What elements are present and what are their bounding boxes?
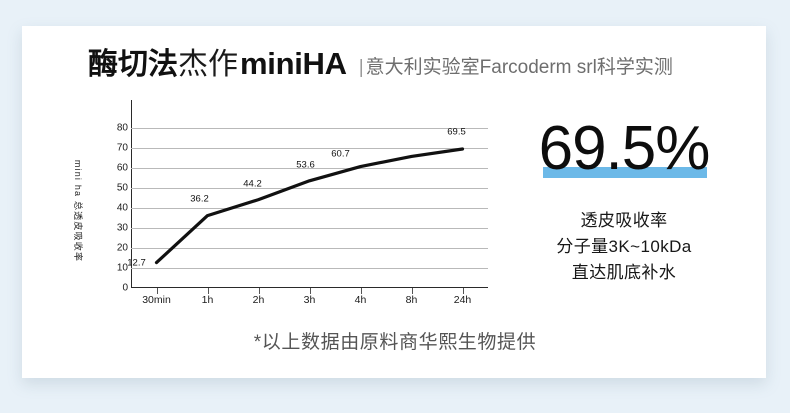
- chart-x-label: 8h: [406, 294, 418, 306]
- chart-data-label: 60.7: [331, 148, 350, 159]
- headline: 酶切法 杰作 miniHA |意大利实验室Farcoderm srl科学实测: [88, 48, 673, 80]
- chart-data-label: 12.7: [127, 257, 146, 268]
- headline-subtitle: |意大利实验室Farcoderm srl科学实测: [347, 58, 673, 77]
- highlight-line: 分子量3K~10kDa: [508, 234, 740, 260]
- chart-series-line: [131, 128, 488, 288]
- headline-thin-cn: 杰作: [178, 50, 238, 80]
- headline-subtitle-text: 意大利实验室Farcoderm srl科学实测: [366, 57, 673, 78]
- chart-y-tick: 70: [117, 143, 128, 154]
- chart-y-tick: 50: [117, 183, 128, 194]
- chart-y-tick: 20: [117, 243, 128, 254]
- chart-data-label: 44.2: [243, 178, 262, 189]
- chart-x-labels: 30min1h2h3h4h8h24h: [131, 294, 488, 310]
- highlight-lines: 透皮吸收率分子量3K~10kDa直达肌底补水: [508, 208, 740, 285]
- chart-y-axis-label: mini ha 总透皮吸收率: [71, 136, 85, 286]
- highlight-line: 直达肌底补水: [508, 260, 740, 286]
- chart-data-label: 53.6: [296, 159, 315, 170]
- headline-separator: |: [359, 57, 366, 78]
- headline-bold-cn: 酶切法: [88, 50, 178, 80]
- chart-x-label: 3h: [304, 294, 316, 306]
- chart-plot-area: 12.736.244.253.660.769.5: [131, 128, 488, 288]
- chart-y-tick: 30: [117, 223, 128, 234]
- highlight-value-wrap: 69.5%: [539, 118, 710, 180]
- highlight-panel: 69.5% 透皮吸收率分子量3K~10kDa直达肌底补水: [508, 118, 740, 285]
- highlight-line: 透皮吸收率: [508, 208, 740, 234]
- chart-y-tick: 80: [117, 123, 128, 134]
- chart-y-tick: 0: [122, 283, 128, 294]
- screenshot-root: 酶切法 杰作 miniHA |意大利实验室Farcoderm srl科学实测 m…: [0, 0, 790, 413]
- chart-y-ticks: 01020304050607080: [102, 128, 128, 288]
- chart-x-label: 2h: [253, 294, 265, 306]
- chart-y-tick: 60: [117, 163, 128, 174]
- chart-x-label: 30min: [142, 294, 171, 306]
- footer-note: *以上数据由原料商华熙生物提供: [0, 327, 790, 354]
- chart-x-label: 1h: [202, 294, 214, 306]
- chart-data-label: 36.2: [190, 193, 209, 204]
- chart-y-tick: 40: [117, 203, 128, 214]
- chart-data-label: 69.5: [447, 127, 466, 138]
- absorption-line-chart: mini ha 总透皮吸收率 01020304050607080 12.736.…: [88, 128, 498, 308]
- highlight-value: 69.5%: [539, 118, 710, 180]
- chart-x-label: 24h: [454, 294, 472, 306]
- headline-brand: miniHA: [238, 48, 347, 79]
- chart-x-label: 4h: [355, 294, 367, 306]
